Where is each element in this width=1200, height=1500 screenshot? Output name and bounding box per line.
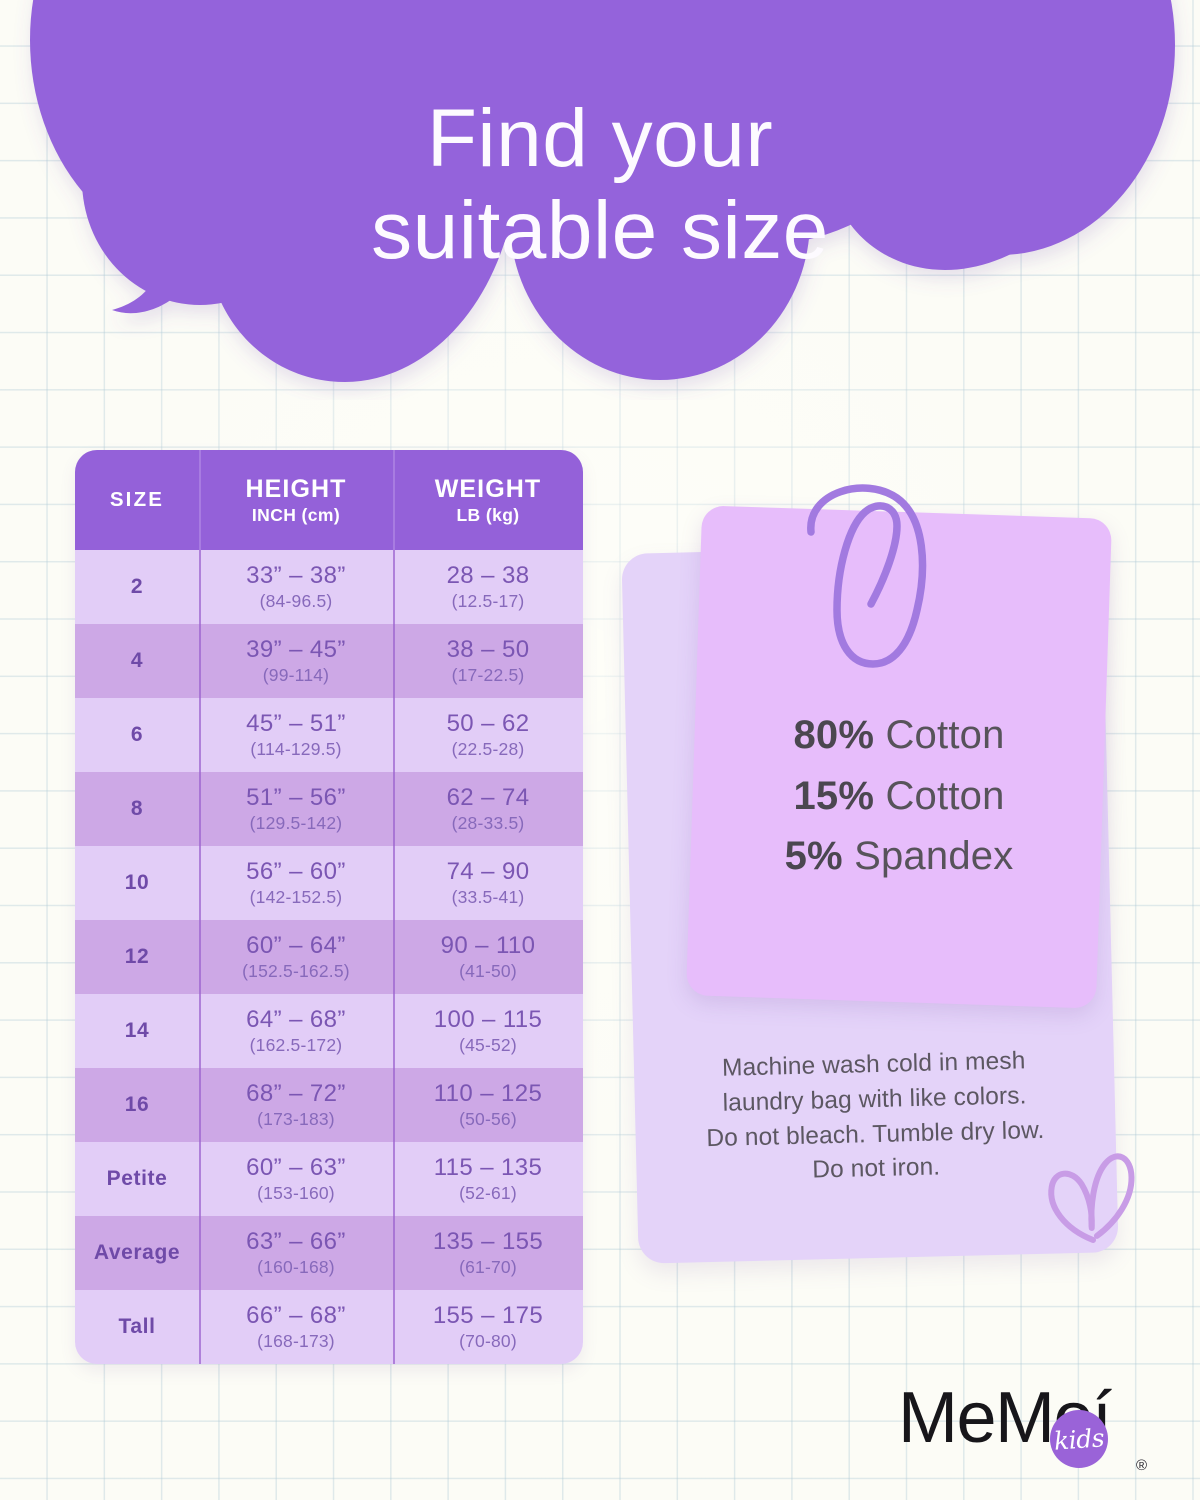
cell-weight-lb: 74 – 90 (447, 858, 530, 886)
cell-height-inches: 64” – 68” (246, 1006, 346, 1034)
registered-trademark-mark: ® (1136, 1457, 1147, 1474)
cell-height-inches: 66” – 68” (246, 1302, 346, 1330)
cell-weight: 38 – 50(17-22.5) (393, 624, 583, 698)
cell-weight-kg: (33.5-41) (452, 887, 525, 908)
cell-height: 45” – 51”(114-129.5) (199, 698, 393, 772)
table-row: 439” – 45”(99-114)38 – 50(17-22.5) (75, 624, 583, 698)
cell-height: 60” – 63”(153-160) (199, 1142, 393, 1216)
cell-height-cm: (99-114) (263, 665, 329, 686)
cell-height: 68” – 72”(173-183) (199, 1068, 393, 1142)
fabric-composition-line: 15% Cotton (793, 766, 1004, 827)
cell-weight: 90 – 110(41-50) (393, 920, 583, 994)
cell-height-cm: (173-183) (257, 1109, 335, 1130)
cell-height-cm: (129.5-142) (250, 813, 343, 834)
cell-size-value: 12 (125, 945, 150, 969)
cell-height: 33” – 38”(84-96.5) (199, 550, 393, 624)
table-row: Petite60” – 63”(153-160)115 – 135(52-61) (75, 1142, 583, 1216)
cell-weight-lb: 155 – 175 (433, 1302, 543, 1330)
cell-weight-kg: (70-80) (459, 1331, 517, 1352)
brand-logo: MeMoí kids ® (898, 1382, 1142, 1486)
table-header-height: HEIGHT INCH (cm) (199, 450, 393, 550)
cell-size-value: 10 (125, 871, 150, 895)
cell-size-value: 6 (131, 723, 143, 747)
cell-weight: 62 – 74(28-33.5) (393, 772, 583, 846)
cell-size-value: Average (94, 1241, 180, 1265)
cell-height-inches: 51” – 56” (246, 784, 346, 812)
cell-size: 2 (75, 550, 199, 624)
table-header-weight: WEIGHT LB (kg) (393, 450, 583, 550)
header-label-height: HEIGHT (245, 475, 346, 504)
table-header-row: SIZE HEIGHT INCH (cm) WEIGHT LB (kg) (75, 450, 583, 550)
logo-kids-badge: kids (1050, 1410, 1108, 1468)
fabric-percent: 80% (793, 713, 874, 757)
cell-size-value: 16 (125, 1093, 150, 1117)
cell-height: 51” – 56”(129.5-142) (199, 772, 393, 846)
cell-weight: 135 – 155(61-70) (393, 1216, 583, 1290)
cell-height-inches: 63” – 66” (246, 1228, 346, 1256)
logo-kids-label: kids (1053, 1423, 1105, 1455)
cell-size-value: Tall (118, 1315, 155, 1339)
table-row: 1260” – 64”(152.5-162.5)90 – 110(41-50) (75, 920, 583, 994)
cell-height-inches: 68” – 72” (246, 1080, 346, 1108)
cell-size-value: Petite (107, 1167, 168, 1191)
fabric-percent: 15% (793, 774, 874, 818)
cell-weight: 110 – 125(50-56) (393, 1068, 583, 1142)
size-chart-table: SIZE HEIGHT INCH (cm) WEIGHT LB (kg) 233… (75, 450, 583, 1364)
cell-size: 6 (75, 698, 199, 772)
cell-weight-kg: (17-22.5) (452, 665, 525, 686)
cell-height: 63” – 66”(160-168) (199, 1216, 393, 1290)
table-row: 851” – 56”(129.5-142)62 – 74(28-33.5) (75, 772, 583, 846)
cell-size-value: 14 (125, 1019, 150, 1043)
table-row: Tall66” – 68”(168-173)155 – 175(70-80) (75, 1290, 583, 1364)
cell-weight-kg: (28-33.5) (452, 813, 525, 834)
table-row: 645” – 51”(114-129.5)50 – 62(22.5-28) (75, 698, 583, 772)
paperclip-icon (793, 482, 943, 672)
cell-height: 66” – 68”(168-173) (199, 1290, 393, 1364)
cell-height: 39” – 45”(99-114) (199, 624, 393, 698)
table-body: 233” – 38”(84-96.5)28 – 38(12.5-17)439” … (75, 550, 583, 1364)
cell-weight-lb: 115 – 135 (434, 1154, 543, 1182)
cell-height-cm: (114-129.5) (250, 739, 341, 760)
cell-height-cm: (162.5-172) (250, 1035, 343, 1056)
cell-size: 16 (75, 1068, 199, 1142)
cell-size-value: 4 (131, 649, 143, 673)
cell-height-cm: (153-160) (257, 1183, 335, 1204)
cell-weight-kg: (12.5-17) (452, 591, 525, 612)
cell-weight: 100 – 115(45-52) (393, 994, 583, 1068)
cell-weight: 155 – 175(70-80) (393, 1290, 583, 1364)
cell-weight-lb: 135 – 155 (433, 1228, 543, 1256)
cell-weight: 50 – 62(22.5-28) (393, 698, 583, 772)
cell-height-inches: 60” – 63” (246, 1154, 346, 1182)
cell-height-inches: 56” – 60” (246, 858, 346, 886)
fabric-material: Cotton (885, 774, 1004, 818)
cell-height-inches: 60” – 64” (246, 932, 346, 960)
table-row: 233” – 38”(84-96.5)28 – 38(12.5-17) (75, 550, 583, 624)
care-instructions-text: Machine wash cold in mesh laundry bag wi… (638, 1042, 1111, 1193)
cell-height-cm: (84-96.5) (260, 591, 333, 612)
cell-height: 64” – 68”(162.5-172) (199, 994, 393, 1068)
cell-size-value: 2 (131, 575, 143, 599)
table-row: 1056” – 60”(142-152.5)74 – 90(33.5-41) (75, 846, 583, 920)
cell-weight: 115 – 135(52-61) (393, 1142, 583, 1216)
cell-height: 56” – 60”(142-152.5) (199, 846, 393, 920)
cell-size: Average (75, 1216, 199, 1290)
header-sublabel-height-units: INCH (cm) (252, 505, 340, 526)
table-row: 1464” – 68”(162.5-172)100 – 115(45-52) (75, 994, 583, 1068)
cell-weight-lb: 62 – 74 (447, 784, 530, 812)
cell-height-cm: (160-168) (257, 1257, 335, 1278)
cell-height-cm: (152.5-162.5) (242, 961, 350, 982)
cell-size: Petite (75, 1142, 199, 1216)
fabric-material: Spandex (854, 834, 1013, 878)
cell-size: 8 (75, 772, 199, 846)
cell-weight: 74 – 90(33.5-41) (393, 846, 583, 920)
cell-weight-lb: 50 – 62 (447, 710, 530, 738)
cell-weight-kg: (52-61) (459, 1183, 517, 1204)
header-label-size: SIZE (110, 488, 164, 512)
cell-weight-kg: (61-70) (459, 1257, 517, 1278)
cell-height: 60” – 64”(152.5-162.5) (199, 920, 393, 994)
fabric-composition-line: 80% Cotton (793, 705, 1004, 766)
cell-height-inches: 33” – 38” (246, 562, 346, 590)
cell-size: 12 (75, 920, 199, 994)
cell-size: 4 (75, 624, 199, 698)
table-row: 1668” – 72”(173-183)110 – 125(50-56) (75, 1068, 583, 1142)
cell-size: 14 (75, 994, 199, 1068)
heart-doodle-icon (1045, 1147, 1139, 1249)
cell-weight-lb: 110 – 125 (434, 1080, 543, 1108)
table-header-size: SIZE (75, 450, 199, 550)
header-label-weight: WEIGHT (435, 475, 542, 504)
page-title: Find your suitable size (150, 93, 1050, 277)
cell-weight-lb: 90 – 110 (441, 932, 536, 960)
cell-weight: 28 – 38(12.5-17) (393, 550, 583, 624)
fabric-composition-line: 5% Spandex (785, 826, 1014, 887)
cell-weight-lb: 28 – 38 (447, 562, 530, 590)
cell-weight-kg: (50-56) (459, 1109, 517, 1130)
cell-weight-lb: 100 – 115 (434, 1006, 543, 1034)
fabric-material: Cotton (885, 713, 1004, 757)
cell-weight-kg: (45-52) (459, 1035, 517, 1056)
cell-height-inches: 45” – 51” (246, 710, 346, 738)
header-sublabel-weight-units: LB (kg) (456, 505, 519, 526)
cell-size: 10 (75, 846, 199, 920)
cell-height-cm: (168-173) (257, 1331, 335, 1352)
cell-size: Tall (75, 1290, 199, 1364)
fabric-percent: 5% (785, 834, 843, 878)
cell-weight-kg: (41-50) (459, 961, 517, 982)
cell-weight-kg: (22.5-28) (452, 739, 525, 760)
cell-height-cm: (142-152.5) (250, 887, 343, 908)
cell-height-inches: 39” – 45” (246, 636, 346, 664)
cell-weight-lb: 38 – 50 (447, 636, 530, 664)
cell-size-value: 8 (131, 797, 143, 821)
table-row: Average63” – 66”(160-168)135 – 155(61-70… (75, 1216, 583, 1290)
